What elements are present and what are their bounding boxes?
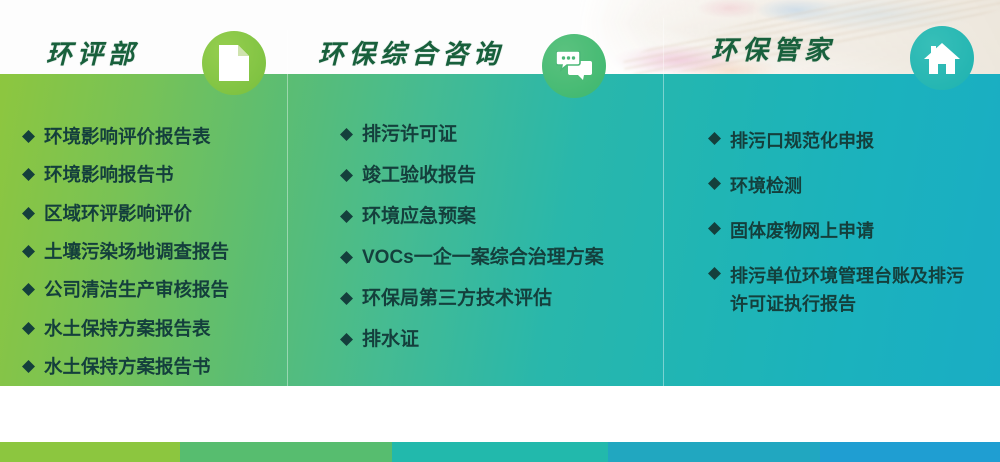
list-item[interactable]: 土壤污染场地调查报告 <box>22 241 229 263</box>
list-item[interactable]: VOCs一企一案综合治理方案 <box>340 247 604 269</box>
diamond-bullet-icon <box>22 360 35 373</box>
list-item-label: 环保局第三方技术评估 <box>362 288 552 310</box>
list-item-label: VOCs一企一案综合治理方案 <box>362 247 604 269</box>
document-icon-badge <box>202 31 266 95</box>
footer-segment <box>608 442 820 462</box>
diamond-bullet-icon <box>340 128 353 141</box>
column-header-3: 环保管家 <box>663 0 1000 118</box>
diamond-bullet-icon <box>708 132 721 145</box>
diamond-bullet-icon <box>708 267 721 280</box>
diamond-bullet-icon <box>340 292 353 305</box>
list-item-label: 排污口规范化申报 <box>730 128 874 156</box>
list-item[interactable]: 区域环评影响评价 <box>22 203 229 225</box>
list-item[interactable]: 水土保持方案报告表 <box>22 318 229 340</box>
column-title-3: 环保管家 <box>711 30 835 67</box>
diamond-bullet-icon <box>340 169 353 182</box>
column-title-1: 环评部 <box>46 34 139 71</box>
list-item-label: 环境应急预案 <box>362 206 476 228</box>
list-item[interactable]: 环保局第三方技术评估 <box>340 288 604 310</box>
list-item[interactable]: 排水证 <box>340 329 604 351</box>
chat-bubbles-icon-badge <box>542 34 606 98</box>
diamond-bullet-icon <box>22 168 35 181</box>
list-item[interactable]: 排污单位环境管理台账及排污 许可证执行报告 <box>708 263 964 319</box>
service-list-3: 排污口规范化申报 环境检测 固体废物网上申请 排污单位环境管理台账及排污 许可证… <box>708 128 964 335</box>
bottom-white-gap <box>0 386 1000 442</box>
list-item[interactable]: 环境检测 <box>708 173 964 201</box>
list-item[interactable]: 环境应急预案 <box>340 206 604 228</box>
column-header-2: 环保综合咨询 <box>287 0 663 118</box>
document-icon <box>219 45 249 81</box>
list-item-label: 环境影响评价报告表 <box>44 126 211 148</box>
house-icon-badge <box>910 26 974 90</box>
diamond-bullet-icon <box>340 210 353 223</box>
list-item[interactable]: 环境影响评价报告表 <box>22 126 229 148</box>
list-item-label: 排污许可证 <box>362 124 457 146</box>
column-header-1: 环评部 <box>0 0 287 118</box>
diamond-bullet-icon <box>340 333 353 346</box>
list-item[interactable]: 固体废物网上申请 <box>708 218 964 246</box>
column-title-2: 环保综合咨询 <box>318 34 504 71</box>
service-list-2: 排污许可证 竣工验收报告 环境应急预案 VOCs一企一案综合治理方案 环保局第三… <box>340 124 604 369</box>
list-item-label: 水土保持方案报告书 <box>44 356 211 378</box>
footer-color-bar <box>0 442 1000 462</box>
diamond-bullet-icon <box>340 251 353 264</box>
list-item[interactable]: 水土保持方案报告书 <box>22 356 229 378</box>
diamond-bullet-icon <box>22 130 35 143</box>
list-item-label: 区域环评影响评价 <box>44 203 192 225</box>
service-list-1: 环境影响评价报告表 环境影响报告书 区域环评影响评价 土壤污染场地调查报告 公司… <box>22 126 229 394</box>
list-item[interactable]: 竣工验收报告 <box>340 165 604 187</box>
list-item-label: 排水证 <box>362 329 419 351</box>
list-item[interactable]: 公司清洁生产审核报告 <box>22 279 229 301</box>
footer-segment <box>180 442 392 462</box>
footer-segment <box>0 442 180 462</box>
poster-root: 环评部 环境影响评价报告表 环境影响报告书 <box>0 0 1000 462</box>
list-item[interactable]: 环境影响报告书 <box>22 164 229 186</box>
diamond-bullet-icon <box>708 222 721 235</box>
list-item-label: 排污单位环境管理台账及排污 许可证执行报告 <box>730 263 964 319</box>
diamond-bullet-icon <box>22 322 35 335</box>
footer-segment <box>392 442 608 462</box>
list-item[interactable]: 排污口规范化申报 <box>708 128 964 156</box>
list-item-label: 环境影响报告书 <box>44 164 174 186</box>
list-item-label: 固体废物网上申请 <box>730 218 874 246</box>
list-item[interactable]: 排污许可证 <box>340 124 604 146</box>
list-item-label: 水土保持方案报告表 <box>44 318 211 340</box>
footer-segment <box>820 442 1000 462</box>
list-item-label: 土壤污染场地调查报告 <box>44 241 229 263</box>
diamond-bullet-icon <box>22 245 35 258</box>
diamond-bullet-icon <box>708 177 721 190</box>
house-icon <box>923 41 961 75</box>
list-item-label: 环境检测 <box>730 173 802 201</box>
chat-bubbles-icon <box>556 51 592 81</box>
list-item-label: 公司清洁生产审核报告 <box>44 279 229 301</box>
diamond-bullet-icon <box>22 207 35 220</box>
list-item-label: 竣工验收报告 <box>362 165 476 187</box>
diamond-bullet-icon <box>22 283 35 296</box>
